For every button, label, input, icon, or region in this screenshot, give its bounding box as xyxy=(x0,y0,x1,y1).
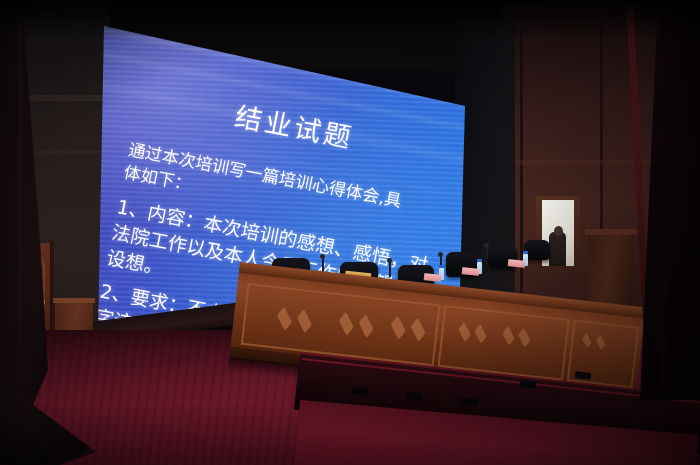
water-bottle-3-cap xyxy=(523,251,528,254)
water-bottle-1-cap xyxy=(439,265,444,268)
slide-title: 结业试题 xyxy=(232,95,358,156)
right-curtain-fold xyxy=(660,0,666,390)
auditorium-photo: 结业试题 通过本次培训写一篇培训心得体会,具 体如下： 1、内容：本次培训的感想… xyxy=(0,0,700,465)
person-head xyxy=(554,226,563,236)
person-in-doorway xyxy=(549,232,566,266)
microphone-head-4 xyxy=(484,243,489,248)
microphone-head-3 xyxy=(438,252,443,257)
left-side-cabinet-top xyxy=(53,298,95,303)
microphone-stem-2 xyxy=(389,262,391,277)
microphone-head-2 xyxy=(387,258,392,263)
water-bottle-2-cap xyxy=(477,259,482,262)
microphone-head-1 xyxy=(320,254,325,259)
left-curtain-fold xyxy=(18,0,23,440)
right-side-cabinet-top xyxy=(585,229,637,235)
